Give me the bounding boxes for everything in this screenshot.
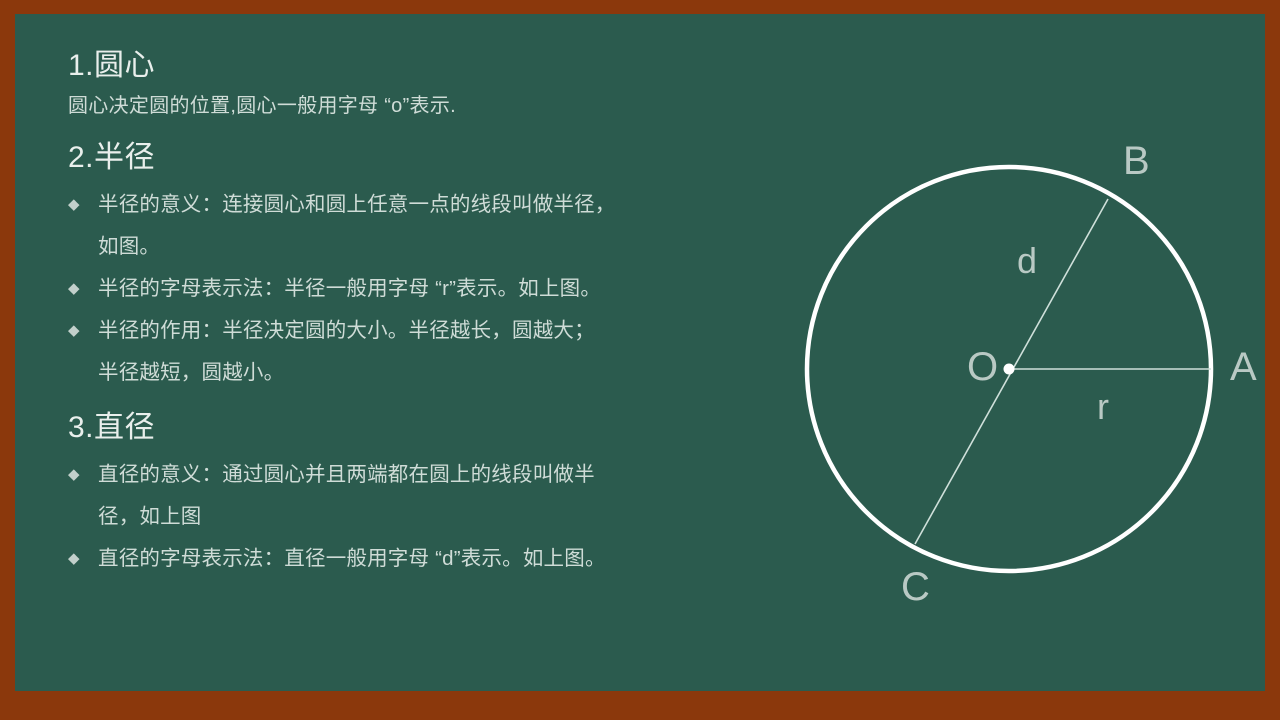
bullet-line: 半径的字母表示法：半径一般用字母 “r”表示。如上图。 (98, 277, 601, 300)
chalkboard-surface: 1.圆心 圆心决定圆的位置,圆心一般用字母 “o”表示. 2.半径 ◆ 半径的意… (15, 14, 1265, 691)
bullet-line: 径，如上图 (98, 505, 202, 528)
diamond-bullet-icon: ◆ (68, 184, 80, 226)
label-point-c: C (901, 567, 930, 607)
bullet-line: 直径的意义：通过圆心并且两端都在圆上的线段叫做半 (98, 463, 595, 486)
label-point-a: A (1230, 347, 1257, 387)
bullet-line: 半径越短，圆越小。 (98, 361, 284, 384)
center-point-dot (1004, 364, 1015, 375)
diamond-bullet-icon: ◆ (68, 268, 80, 310)
circle-diagram: B A C O d r (775, 119, 1265, 629)
bullet-list: ◆ 半径的意义：连接圆心和圆上任意一点的线段叫做半径， 如图。 ◆ 半径的字母表… (68, 184, 728, 394)
bullet-item-continuation: 径，如上图 (68, 496, 728, 538)
bullet-line: 直径的字母表示法：直径一般用字母 “d”表示。如上图。 (98, 547, 606, 570)
diamond-bullet-icon: ◆ (68, 454, 80, 496)
bullet-line: 半径的意义：连接圆心和圆上任意一点的线段叫做半径， (98, 193, 616, 216)
label-center-o: O (967, 347, 998, 387)
section-heading: 2.半径 (68, 136, 728, 180)
section-heading: 3.直径 (68, 406, 728, 450)
bullet-item: ◆ 半径的字母表示法：半径一般用字母 “r”表示。如上图。 (68, 268, 728, 310)
bullet-item-continuation: 如图。 (68, 226, 728, 268)
circle-diagram-svg (775, 119, 1265, 629)
slide-root: 1.圆心 圆心决定圆的位置,圆心一般用字母 “o”表示. 2.半径 ◆ 半径的意… (0, 0, 1280, 720)
section-radius: 2.半径 ◆ 半径的意义：连接圆心和圆上任意一点的线段叫做半径， 如图。 ◆ 半… (68, 136, 728, 394)
section-circle-center: 1.圆心 圆心决定圆的位置,圆心一般用字母 “o”表示. (68, 44, 728, 122)
bullet-item: ◆ 半径的作用：半径决定圆的大小。半径越长，圆越大； (68, 310, 728, 352)
label-diameter-d: d (1017, 241, 1037, 281)
section-subtext: 圆心决定圆的位置,圆心一般用字母 “o”表示. (68, 90, 728, 122)
bullet-item: ◆ 直径的字母表示法：直径一般用字母 “d”表示。如上图。 (68, 538, 728, 580)
bullet-item-continuation: 半径越短，圆越小。 (68, 352, 728, 394)
diamond-bullet-icon: ◆ (68, 538, 80, 580)
lesson-content: 1.圆心 圆心决定圆的位置,圆心一般用字母 “o”表示. 2.半径 ◆ 半径的意… (68, 44, 728, 582)
bullet-line: 如图。 (98, 235, 160, 258)
bullet-list: ◆ 直径的意义：通过圆心并且两端都在圆上的线段叫做半 径，如上图 ◆ 直径的字母… (68, 454, 728, 580)
bullet-item: ◆ 半径的意义：连接圆心和圆上任意一点的线段叫做半径， (68, 184, 728, 226)
section-diameter: 3.直径 ◆ 直径的意义：通过圆心并且两端都在圆上的线段叫做半 径，如上图 ◆ … (68, 406, 728, 580)
section-heading: 1.圆心 (68, 44, 728, 88)
diamond-bullet-icon: ◆ (68, 310, 80, 352)
bullet-line: 半径的作用：半径决定圆的大小。半径越长，圆越大； (98, 319, 595, 342)
label-radius-r: r (1097, 387, 1109, 427)
label-point-b: B (1123, 141, 1150, 181)
bullet-item: ◆ 直径的意义：通过圆心并且两端都在圆上的线段叫做半 (68, 454, 728, 496)
